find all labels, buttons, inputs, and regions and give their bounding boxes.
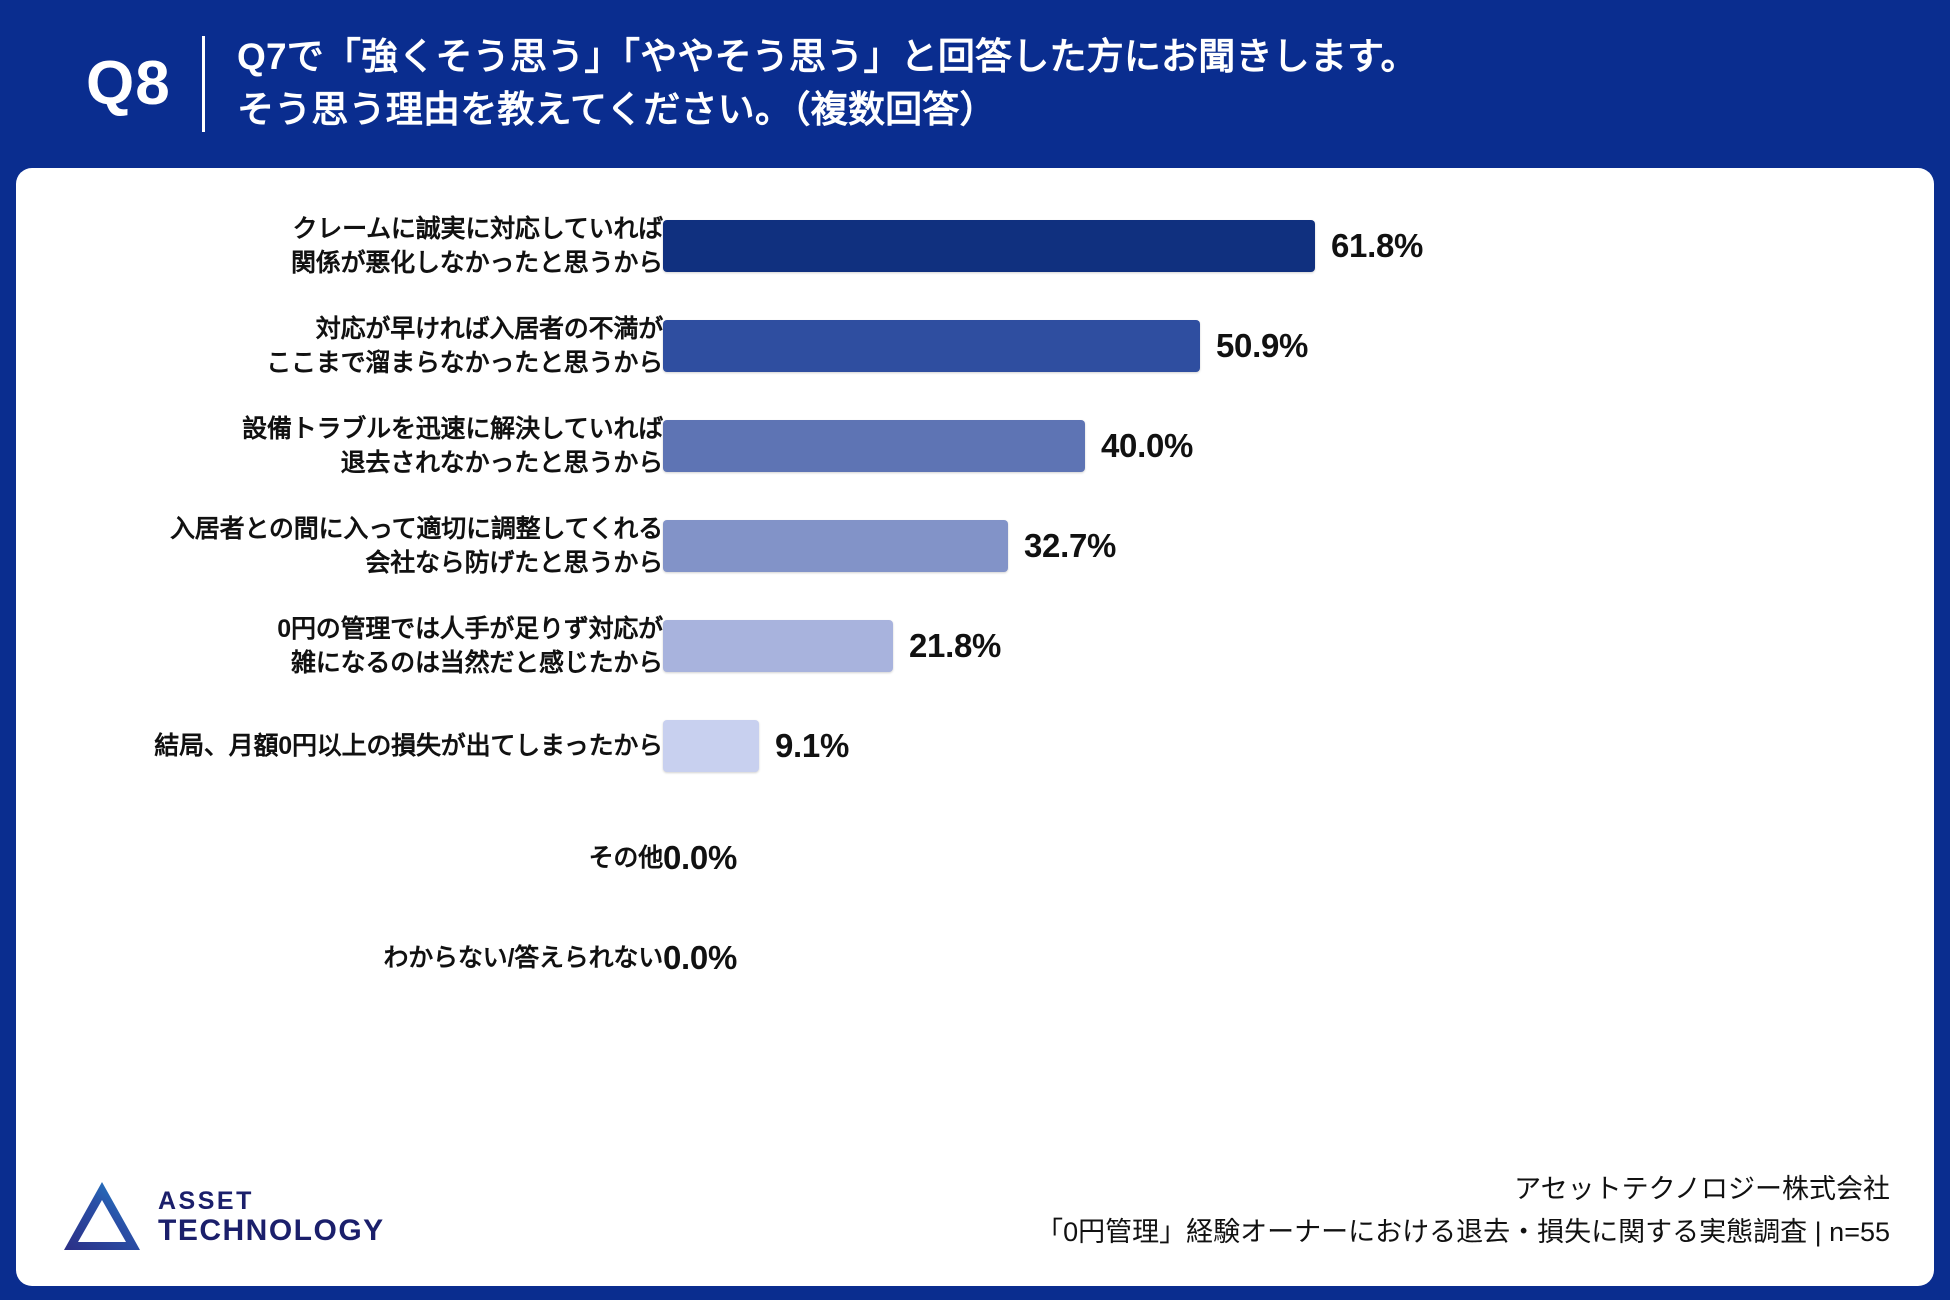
category-label: 対応が早ければ入居者の不満がここまで溜まらなかったと思うから [0,312,663,381]
category-label-line: クレームに誠実に対応していれば [0,212,663,247]
category-label-line: 退去されなかったと思うから [0,446,663,481]
chart-row: 対応が早ければ入居者の不満がここまで溜まらなかったと思うから50.9% [16,296,1934,396]
bar [663,620,893,672]
chart-card: クレームに誠実に対応していれば関係が悪化しなかったと思うから61.8%対応が早け… [16,168,1934,1286]
header-divider [202,36,205,132]
bar-container: 9.1% [663,696,849,796]
bar-container: 40.0% [663,396,1193,496]
bar-container: 0.0% [663,808,737,908]
bar-value-label: 0.0% [663,939,737,977]
company-logo: ASSET TECHNOLOGY [60,1178,385,1256]
category-label-line: 設備トラブルを迅速に解決していれば [0,412,663,447]
survey-caption: 「0円管理」経験オーナーにおける退去・損失に関する実態調査 | n=55 [1036,1212,1890,1253]
bar-value-label: 21.8% [909,627,1001,665]
logo-line-1: ASSET [158,1189,385,1214]
bar [663,520,1008,572]
bar-container: 50.9% [663,296,1308,396]
category-label: 入居者との間に入って適切に調整してくれる会社なら防げたと思うから [0,512,663,581]
chart-row: わからない/答えられない0.0% [16,908,1934,1008]
category-label: その他 [0,841,663,876]
category-label: 0円の管理では人手が足りず対応が雑になるのは当然だと感じたから [0,612,663,681]
chart-row: 設備トラブルを迅速に解決していれば退去されなかったと思うから40.0% [16,396,1934,496]
logo-wordmark: ASSET TECHNOLOGY [158,1189,385,1246]
footer-credits: アセットテクノロジー株式会社 「0円管理」経験オーナーにおける退去・損失に関する… [1036,1169,1890,1252]
bar-value-label: 0.0% [663,839,737,877]
logo-line-2: TECHNOLOGY [158,1216,385,1246]
company-name: アセットテクノロジー株式会社 [1036,1169,1890,1210]
category-label-line: 関係が悪化しなかったと思うから [0,246,663,281]
bar [663,220,1315,272]
slide-header: Q8 Q7で「強くそう思う」「ややそう思う」と回答した方にお聞きします。 そう思… [0,0,1950,168]
category-label: わからない/答えられない [0,941,663,976]
bar-container: 32.7% [663,496,1116,596]
category-label-line: 対応が早ければ入居者の不満が [0,312,663,347]
question-number: Q8 [86,53,202,115]
bar-value-label: 32.7% [1024,527,1116,565]
chart-row: 入居者との間に入って適切に調整してくれる会社なら防げたと思うから32.7% [16,496,1934,596]
category-label: 設備トラブルを迅速に解決していれば退去されなかったと思うから [0,412,663,481]
chart-row: 0円の管理では人手が足りず対応が雑になるのは当然だと感じたから21.8% [16,596,1934,696]
triangle-logo-icon [60,1178,144,1256]
bar [663,720,759,772]
category-label-line: 雑になるのは当然だと感じたから [0,646,663,681]
category-label-line: 結局、月額0円以上の損失が出てしまったから [0,729,663,764]
chart-row: クレームに誠実に対応していれば関係が悪化しなかったと思うから61.8% [16,196,1934,296]
category-label-line: 入居者との間に入って適切に調整してくれる [0,512,663,547]
question-line-2: そう思う理由を教えてください。（複数回答） [237,84,1418,137]
bar-value-label: 9.1% [775,727,849,765]
bar-value-label: 50.9% [1216,327,1308,365]
question-text: Q7で「強くそう思う」「ややそう思う」と回答した方にお聞きします。 そう思う理由… [237,31,1418,136]
category-label-line: 会社なら防げたと思うから [0,546,663,581]
chart-row: その他0.0% [16,808,1934,908]
bar-container: 61.8% [663,196,1423,296]
category-label-line: ここまで溜まらなかったと思うから [0,346,663,381]
chart-row: 結局、月額0円以上の損失が出てしまったから9.1% [16,696,1934,796]
category-label-line: その他 [0,841,663,876]
slide-root: Q8 Q7で「強くそう思う」「ややそう思う」と回答した方にお聞きします。 そう思… [0,0,1950,1300]
question-line-1: Q7で「強くそう思う」「ややそう思う」と回答した方にお聞きします。 [237,31,1418,84]
bar [663,320,1200,372]
bar-container: 21.8% [663,596,1001,696]
bar-value-label: 40.0% [1101,427,1193,465]
horizontal-bar-chart: クレームに誠実に対応していれば関係が悪化しなかったと思うから61.8%対応が早け… [16,168,1934,1118]
bar-value-label: 61.8% [1331,227,1423,265]
slide-footer: ASSET TECHNOLOGY アセットテクノロジー株式会社 「0円管理」経験… [16,1126,1934,1286]
category-label: クレームに誠実に対応していれば関係が悪化しなかったと思うから [0,212,663,281]
bar [663,420,1085,472]
category-label-line: 0円の管理では人手が足りず対応が [0,612,663,647]
category-label-line: わからない/答えられない [0,941,663,976]
category-label: 結局、月額0円以上の損失が出てしまったから [0,729,663,764]
bar-container: 0.0% [663,908,737,1008]
